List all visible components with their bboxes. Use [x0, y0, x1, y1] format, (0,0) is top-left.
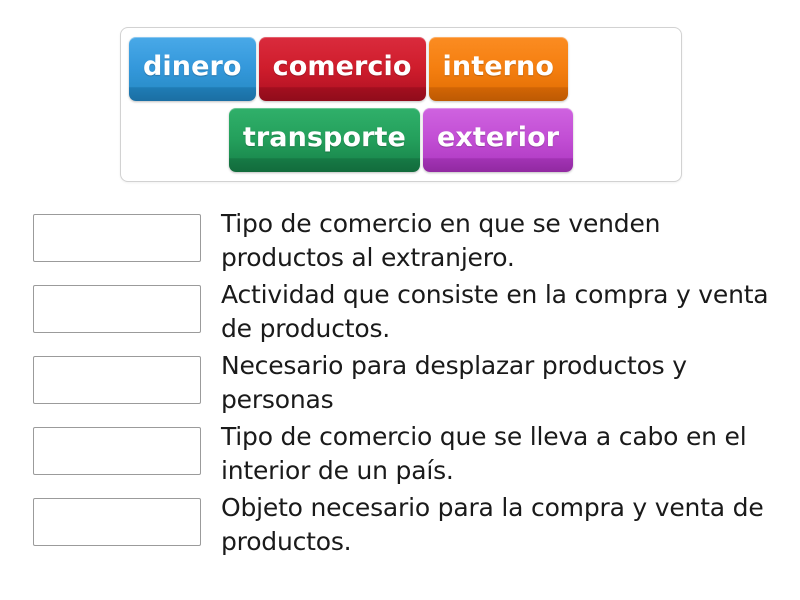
word-tile-interno[interactable]: interno [429, 37, 568, 101]
answer-drop-zone-4[interactable] [33, 427, 201, 475]
question-list: Tipo de comercio en que se venden produc… [33, 207, 773, 562]
word-tile-transporte[interactable]: transporte [229, 108, 420, 172]
question-definition-5: Objeto necesario para la compra y venta … [221, 491, 773, 559]
answer-drop-zone-2[interactable] [33, 285, 201, 333]
question-row: Actividad que consiste en la compra y ve… [33, 278, 773, 349]
question-row: Necesario para desplazar productos y per… [33, 349, 773, 420]
word-tile-comercio[interactable]: comercio [259, 37, 426, 101]
tile-row-2: transporte exterior [121, 108, 681, 178]
word-tile-exterior[interactable]: exterior [423, 108, 573, 172]
answer-drop-zone-5[interactable] [33, 498, 201, 546]
word-tile-tray: dinero comercio interno transporte exter… [120, 27, 682, 182]
question-row: Tipo de comercio que se lleva a cabo en … [33, 420, 773, 491]
answer-drop-zone-1[interactable] [33, 214, 201, 262]
question-row: Objeto necesario para la compra y venta … [33, 491, 773, 562]
question-row: Tipo de comercio en que se venden produc… [33, 207, 773, 278]
word-tile-dinero[interactable]: dinero [129, 37, 256, 101]
answer-drop-zone-3[interactable] [33, 356, 201, 404]
question-definition-2: Actividad que consiste en la compra y ve… [221, 278, 773, 346]
tile-row-1: dinero comercio interno [121, 37, 689, 107]
question-definition-3: Necesario para desplazar productos y per… [221, 349, 773, 417]
question-definition-1: Tipo de comercio en que se venden produc… [221, 207, 773, 275]
question-definition-4: Tipo de comercio que se lleva a cabo en … [221, 420, 773, 488]
